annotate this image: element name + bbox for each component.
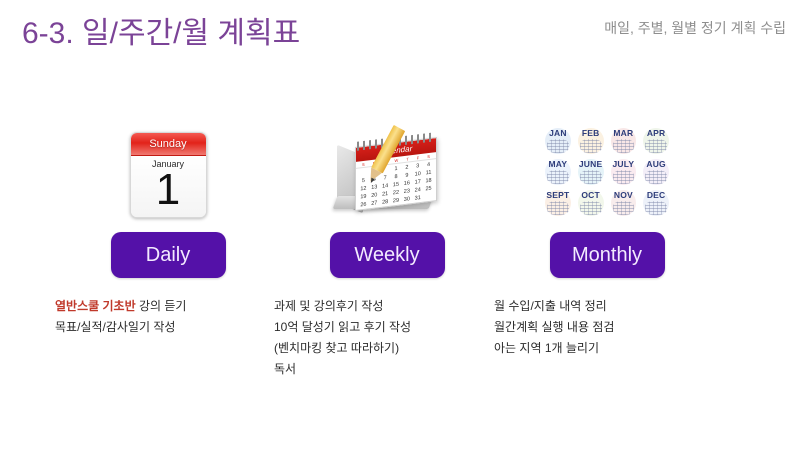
monthly-button[interactable]: Monthly [550, 232, 665, 278]
desk-calendar-weekday: T [406, 156, 408, 161]
month-minigrid [645, 139, 667, 153]
month-label: SEPT [546, 190, 569, 200]
months-grid-icon: JANFEBMARAPRMAYJUNEJULYAUGSEPTOCTNOVDEC [542, 126, 672, 218]
day-calendar-weekday: Sunday [131, 133, 206, 156]
column-weekly: Calendar SMTWTFS 12345678910111213141516… [272, 118, 502, 380]
month-minigrid [547, 139, 569, 153]
desk-calendar-weekday: W [395, 158, 399, 163]
column-daily: Sunday January 1 Daily 열반스쿨 기초반 강의 듣기 목표… [53, 118, 283, 338]
desk-calendar-day: 28 [380, 198, 391, 207]
list-item: 월간계획 실행 내용 점검 [494, 317, 722, 338]
desk-calendar-day [423, 192, 434, 201]
day-calendar-daynumber: 1 [156, 168, 180, 212]
list-item: 과제 및 강의후기 작성 [274, 296, 502, 317]
month-label: JAN [549, 128, 567, 138]
month-label: JUNE [579, 159, 602, 169]
desk-calendar-day: 31 [412, 194, 423, 203]
list-item: 독서 [274, 359, 502, 380]
day-calendar-icon: Sunday January 1 [130, 132, 207, 218]
month-minigrid [613, 201, 635, 215]
month-label: MAR [613, 128, 633, 138]
month-minigrid [613, 170, 635, 184]
page-title: 6-3. 일/주간/월 계획표 [22, 8, 300, 52]
list-item: 열반스쿨 기초반 강의 듣기 [55, 296, 283, 317]
weekly-notes: 과제 및 강의후기 작성 10억 달성기 읽고 후기 작성 (벤치마킹 찾고 따… [272, 296, 502, 380]
list-item: 목표/실적/감사일기 작성 [55, 317, 283, 338]
desk-calendar-day: 26 [358, 200, 369, 209]
month-cell: APR [640, 126, 672, 156]
month-minigrid [580, 201, 602, 215]
note-accent: 열반스쿨 기초반 [55, 299, 136, 313]
month-label: APR [647, 128, 666, 138]
list-item: 10억 달성기 읽고 후기 작성 [274, 317, 502, 338]
month-minigrid [645, 170, 667, 184]
month-cell: JUNE [575, 157, 607, 187]
month-cell: MAR [608, 126, 640, 156]
desk-calendar-icon: Calendar SMTWTFS 12345678910111213141516… [333, 126, 441, 218]
monthly-icon-wrap: JANFEBMARAPRMAYJUNEJULYAUGSEPTOCTNOVDEC [492, 118, 722, 218]
plan-columns: Sunday January 1 Daily 열반스쿨 기초반 강의 듣기 목표… [0, 118, 802, 418]
column-monthly: JANFEBMARAPRMAYJUNEJULYAUGSEPTOCTNOVDEC … [492, 118, 722, 359]
month-cell: JAN [542, 126, 574, 156]
list-item: (벤치마킹 찾고 따라하기) [274, 338, 502, 359]
month-label: NOV [614, 190, 633, 200]
month-cell: AUG [640, 157, 672, 187]
desk-calendar-day: 27 [369, 199, 380, 208]
month-cell: OCT [575, 188, 607, 218]
month-label: OCT [581, 190, 600, 200]
month-cell: DEC [640, 188, 672, 218]
desk-calendar-weekday: S [362, 162, 365, 167]
month-minigrid [580, 170, 602, 184]
month-label: MAY [549, 159, 568, 169]
desk-calendar-day: 30 [401, 195, 412, 204]
list-item: 아는 지역 1개 늘리기 [494, 338, 722, 359]
month-label: DEC [647, 190, 666, 200]
desk-calendar-day: 29 [391, 196, 402, 205]
month-cell: SEPT [542, 188, 574, 218]
month-cell: FEB [575, 126, 607, 156]
note-plain: 목표/실적/감사일기 작성 [55, 320, 175, 334]
list-item: 월 수입/지출 내역 정리 [494, 296, 722, 317]
month-cell: JULY [608, 157, 640, 187]
daily-button[interactable]: Daily [111, 232, 226, 278]
desk-calendar-weekday: S [427, 154, 430, 159]
monthly-notes: 월 수입/지출 내역 정리 월간계획 실행 내용 점검 아는 지역 1개 늘리기 [492, 296, 722, 359]
day-calendar-body: January 1 [131, 156, 206, 217]
weekly-button[interactable]: Weekly [330, 232, 445, 278]
month-minigrid [613, 139, 635, 153]
month-cell: NOV [608, 188, 640, 218]
month-label: AUG [646, 159, 666, 169]
month-minigrid [580, 139, 602, 153]
month-cell: MAY [542, 157, 574, 187]
note-plain: 강의 듣기 [136, 299, 187, 313]
weekly-icon-wrap: Calendar SMTWTFS 12345678910111213141516… [272, 118, 502, 218]
month-minigrid [547, 170, 569, 184]
page-subtitle: 매일, 주별, 월별 정기 계획 수립 [604, 18, 786, 38]
month-label: JULY [613, 159, 635, 169]
month-minigrid [645, 201, 667, 215]
month-label: FEB [582, 128, 600, 138]
daily-notes: 열반스쿨 기초반 강의 듣기 목표/실적/감사일기 작성 [53, 296, 283, 338]
month-minigrid [547, 201, 569, 215]
daily-icon-wrap: Sunday January 1 [53, 118, 283, 218]
desk-calendar-weekday: F [417, 155, 419, 160]
